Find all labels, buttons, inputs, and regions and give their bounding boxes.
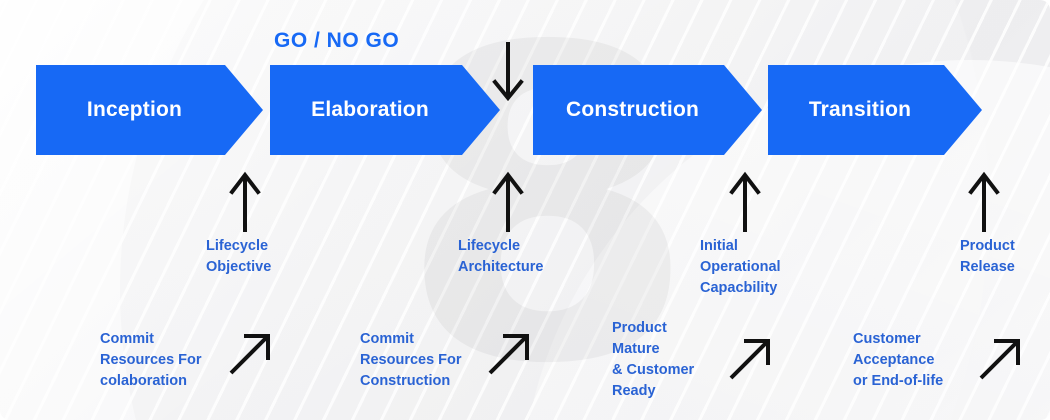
arrow-up-right-icon bbox=[485, 330, 533, 378]
milestone-label-initial-operational-capability: Initial Operational Capacbility bbox=[700, 236, 781, 299]
phase-construction[interactable]: Construction bbox=[533, 65, 762, 155]
phase-label: Construction bbox=[533, 98, 762, 122]
phase-label: Inception bbox=[36, 98, 263, 122]
phase-label: Elaboration bbox=[270, 98, 500, 122]
phase-transition[interactable]: Transition bbox=[768, 65, 982, 155]
milestone-label-lifecycle-objective: Lifecycle Objective bbox=[206, 236, 271, 278]
outcome-label-product-mature-customer-ready: Product Mature & Customer Ready bbox=[612, 318, 694, 402]
arrow-up-icon bbox=[228, 170, 262, 234]
go-no-go-label: GO / NO GO bbox=[274, 29, 399, 53]
arrow-up-icon bbox=[491, 170, 525, 234]
process-lifecycle-diagram: 8 GO / NO GO Inception Elaboration Const… bbox=[0, 0, 1050, 420]
phase-inception[interactable]: Inception bbox=[36, 65, 263, 155]
arrow-up-icon bbox=[728, 170, 762, 234]
outcome-label-commit-resources-construction: Commit Resources For Construction bbox=[360, 329, 462, 392]
arrow-down-icon bbox=[491, 40, 525, 104]
phase-elaboration[interactable]: Elaboration bbox=[270, 65, 500, 155]
phase-label: Transition bbox=[768, 98, 982, 122]
arrow-up-right-icon bbox=[226, 330, 274, 378]
arrow-up-right-icon bbox=[726, 335, 774, 383]
milestone-label-product-release: Product Release bbox=[960, 236, 1015, 278]
arrow-up-icon bbox=[967, 170, 1001, 234]
arrow-up-right-icon bbox=[976, 335, 1024, 383]
outcome-label-commit-resources-colaboration: Commit Resources For colaboration bbox=[100, 329, 202, 392]
outcome-label-customer-acceptance-end-of-life: Customer Acceptance or End-of-life bbox=[853, 329, 943, 392]
milestone-label-lifecycle-architecture: Lifecycle Architecture bbox=[458, 236, 543, 278]
